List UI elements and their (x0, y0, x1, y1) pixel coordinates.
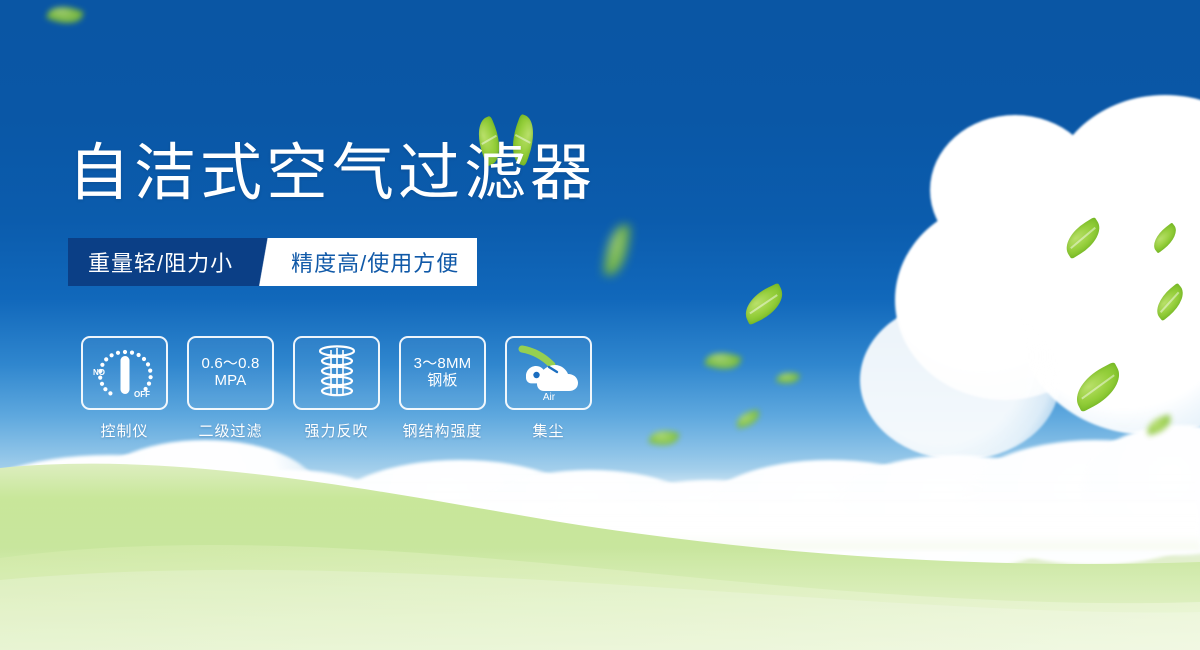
pressure-text-icon: 0.6～0.8 MPA (187, 336, 274, 410)
dial-on-label: NO (93, 368, 105, 377)
feature-label: 二级过滤 (198, 420, 262, 441)
feature-item-steel-strength[interactable]: 3～8MM 钢板 钢结构强度 (399, 336, 486, 441)
feature-label: 控制仪 (100, 420, 148, 441)
gauge-dial-icon: NO OFF (81, 336, 168, 410)
leaf-icon (603, 223, 630, 277)
feature-label: 集尘 (532, 420, 564, 441)
leaf-icon (1059, 217, 1107, 260)
leaf-icon (1148, 222, 1181, 253)
tagline-primary: 重量轻/阻力小 (68, 238, 251, 286)
steel-material: 钢板 (414, 373, 472, 390)
air-cloud-icon: Air (505, 336, 592, 410)
leaf-icon (776, 370, 800, 386)
page-title: 自洁式空气过滤器 (68, 143, 596, 205)
pressure-value: 0.6～0.8 (201, 355, 259, 372)
feature-label: 强力反吹 (304, 420, 368, 441)
feature-item-reverse-blow[interactable]: 强力反吹 (293, 336, 380, 441)
cloud-shape (1100, 150, 1200, 320)
tagline-slash-divider (251, 238, 285, 286)
pressure-unit: MPA (201, 373, 259, 390)
steel-plate-text-icon: 3～8MM 钢板 (399, 336, 486, 410)
leaf-icon (46, 1, 84, 29)
feature-list: NO OFF 控制仪 0.6～0.8 MPA 二级过滤 (81, 336, 592, 441)
leaf-icon (704, 348, 742, 375)
feature-label: 钢结构强度 (402, 420, 482, 441)
leaf-icon (735, 409, 762, 428)
tagline-bar: 重量轻/阻力小 精度高/使用方便 (68, 238, 477, 286)
grass-field (0, 430, 1200, 650)
tagline-secondary: 精度高/使用方便 (285, 238, 477, 286)
dial-off-label: OFF (134, 390, 150, 399)
feature-item-secondary-filter[interactable]: 0.6～0.8 MPA 二级过滤 (187, 336, 274, 441)
cloud-shape (1050, 95, 1200, 295)
cloud-shape (1020, 215, 1200, 435)
air-label: Air (542, 392, 555, 401)
product-banner: 自洁式空气过滤器 重量轻/阻力小 精度高/使用方便 (0, 0, 1200, 650)
coil-spring-icon (293, 336, 380, 410)
leaf-icon (1068, 362, 1128, 413)
leaf-icon (739, 283, 790, 326)
feature-item-dust-collection[interactable]: Air 集尘 (505, 336, 592, 441)
steel-thickness: 3～8MM (414, 355, 472, 372)
cloud-shape (960, 135, 1200, 375)
feature-item-controller[interactable]: NO OFF 控制仪 (81, 336, 168, 441)
leaf-icon (1150, 283, 1190, 321)
